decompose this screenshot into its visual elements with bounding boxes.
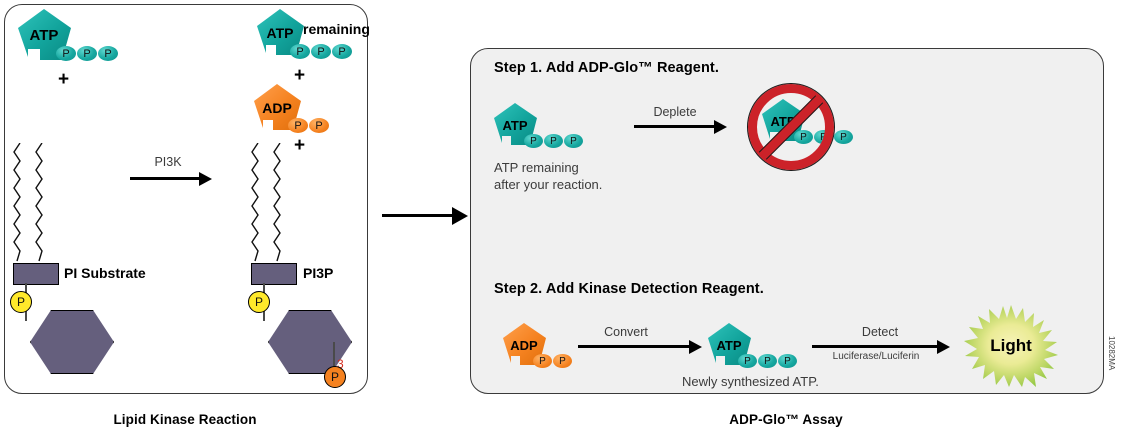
- lipid-tails-product: [250, 143, 296, 263]
- pi3k-arrow-line: [130, 177, 202, 180]
- step1-note-line-1: ATP remaining: [494, 160, 579, 175]
- phosphate-bead: P: [544, 134, 563, 148]
- atp-phosphate-chain-reactant: P P P: [56, 46, 118, 61]
- transition-arrow-line: [382, 214, 454, 217]
- adp-phosphate-chain: P P: [288, 118, 329, 133]
- atp-phosphate-chain-product: P P P: [290, 44, 352, 59]
- pi3k-arrow-label: PI3K: [128, 155, 208, 169]
- phosphate-bead: P: [533, 354, 552, 368]
- phosphate-bead: P: [56, 46, 76, 61]
- phosphate-bead: P: [524, 134, 543, 148]
- step-1-title: Step 1. Add ADP-Glo™ Reagent.: [494, 60, 719, 76]
- plus-sign-reactants: +: [58, 70, 69, 89]
- step1-atp-phosphate-chain: P P P: [524, 134, 583, 148]
- phosphate-bead: P: [564, 134, 583, 148]
- pi3k-arrow-head: [199, 172, 212, 186]
- phosphate-bead: P: [309, 118, 329, 133]
- deplete-arrow-head: [714, 120, 727, 134]
- phosphate-yellow-substrate: P: [10, 291, 32, 313]
- phosphate-bead: P: [778, 354, 797, 368]
- figure-side-code: 10282MA: [1107, 336, 1116, 370]
- step2-atp-phosphate-chain: P P P: [738, 354, 797, 368]
- phosphate-bead: P: [332, 44, 352, 59]
- phosphate-bead: P: [834, 130, 853, 144]
- light-burst-icon: Light: [963, 305, 1059, 387]
- detect-arrow-line: [812, 345, 940, 348]
- phosphate-bead: P: [77, 46, 97, 61]
- detect-arrow-label: Detect: [820, 325, 940, 339]
- phosphate-orange-3-position: P: [324, 366, 346, 388]
- phosphate-bead: P: [311, 44, 331, 59]
- deplete-arrow-label: Deplete: [627, 105, 723, 119]
- phosphate-yellow-product: P: [248, 291, 270, 313]
- deplete-arrow-line: [634, 125, 717, 128]
- step1-note-line-2: after your reaction.: [494, 177, 602, 192]
- phosphate-bead: P: [98, 46, 118, 61]
- lipid-tails-substrate: [12, 143, 58, 263]
- light-label: Light: [963, 305, 1059, 387]
- right-panel-caption: ADP-Glo™ Assay: [470, 412, 1102, 427]
- lipid-head-group-product: [251, 263, 297, 285]
- phosphate-bead: P: [758, 354, 777, 368]
- atp-remaining-note: remaining: [303, 21, 370, 37]
- phosphate-bead: P: [288, 118, 308, 133]
- left-panel-caption: Lipid Kinase Reaction: [4, 412, 366, 427]
- step2-atp-note: Newly synthesized ATP.: [682, 374, 819, 389]
- phosphate-bead: P: [290, 44, 310, 59]
- step2-adp-phosphate-chain: P P: [533, 354, 572, 368]
- transition-arrow-head: [452, 207, 468, 225]
- convert-arrow-line: [578, 345, 692, 348]
- convert-arrow-label: Convert: [578, 325, 674, 339]
- detect-arrow-sublabel: Luciferase/Luciferin: [812, 351, 940, 362]
- pi3p-label: PI3P: [303, 265, 333, 281]
- phosphate-bead: P: [738, 354, 757, 368]
- lipid-head-group-substrate: [13, 263, 59, 285]
- step-2-title: Step 2. Add Kinase Detection Reagent.: [494, 281, 764, 297]
- phosphate-bead: P: [553, 354, 572, 368]
- pi-substrate-label: PI Substrate: [64, 265, 146, 281]
- convert-arrow-head: [689, 340, 702, 354]
